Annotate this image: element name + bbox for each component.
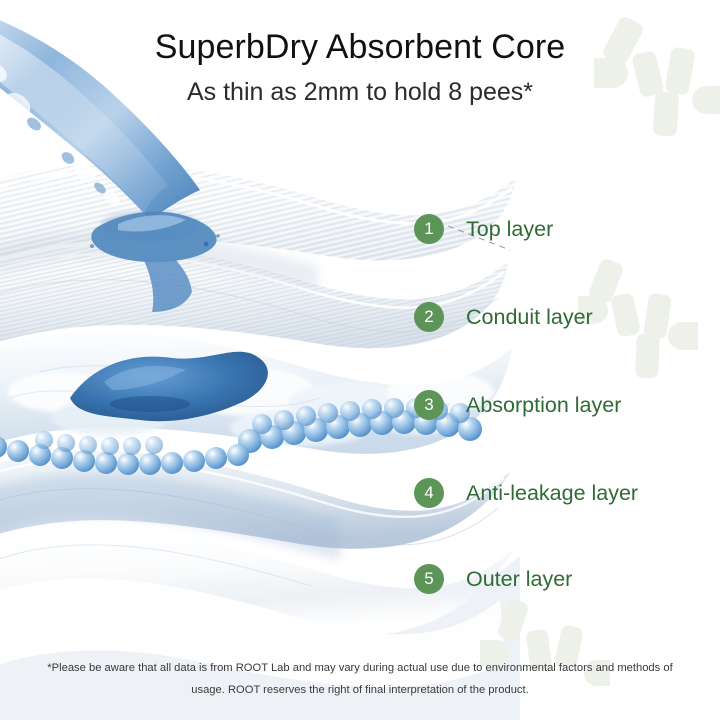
header: SuperbDry Absorbent Core As thin as 2mm …	[0, 0, 720, 107]
layer-label-anti-leakage: Anti-leakage layer	[466, 481, 638, 506]
absorbent-core-photo	[0, 0, 720, 720]
footnote-line-1: *Please be aware that all data is from R…	[36, 658, 684, 680]
callout-absorption-layer[interactable]: 3 Absorption layer	[414, 388, 621, 422]
layer-label-absorption: Absorption layer	[466, 393, 621, 418]
layer-badge-5: 5	[414, 564, 444, 594]
layer-label-conduit: Conduit layer	[466, 305, 593, 330]
product-infographic: SuperbDry Absorbent Core As thin as 2mm …	[0, 0, 720, 720]
layer-badge-4: 4	[414, 478, 444, 508]
page-title: SuperbDry Absorbent Core	[0, 0, 720, 67]
callout-conduit-layer[interactable]: 2 Conduit layer	[414, 300, 593, 334]
layer-label-top: Top layer	[466, 217, 553, 242]
footnote-line-2: usage. ROOT reserves the right of final …	[36, 680, 684, 702]
layer-badge-1: 1	[414, 214, 444, 244]
callout-anti-leakage-layer[interactable]: 4 Anti-leakage layer	[414, 476, 638, 510]
callout-outer-layer[interactable]: 5 Outer layer	[414, 562, 572, 596]
layer-badge-3: 3	[414, 390, 444, 420]
layer-label-outer: Outer layer	[466, 567, 572, 592]
callout-top-layer[interactable]: 1 Top layer	[414, 212, 553, 246]
page-subtitle: As thin as 2mm to hold 8 pees*	[0, 67, 720, 107]
layer-badge-2: 2	[414, 302, 444, 332]
footnote: *Please be aware that all data is from R…	[36, 658, 684, 702]
